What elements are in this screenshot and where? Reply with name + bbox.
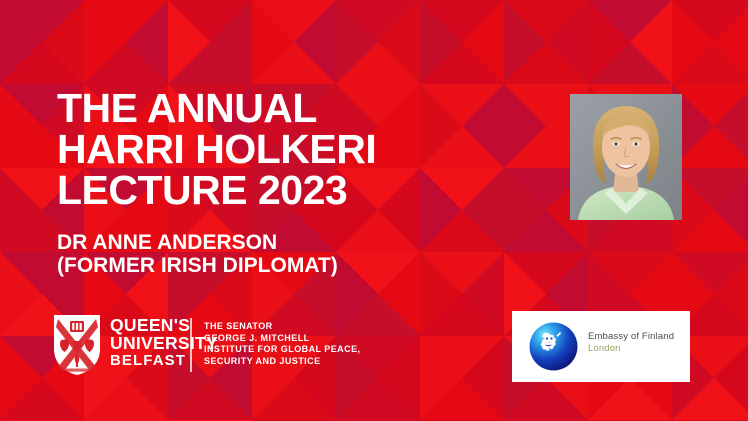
pattern-triangle	[252, 0, 294, 84]
page-title: THE ANNUAL HARRI HOLKERI LECTURE 2023	[57, 88, 537, 211]
embassy-of-finland-logo: Embassy of Finland London	[512, 311, 690, 382]
queens-crest-icon	[52, 313, 102, 377]
pattern-cell	[504, 0, 588, 84]
speaker-role: (FORMER IRISH DIPLOMAT)	[57, 254, 477, 277]
pattern-cell	[252, 0, 336, 84]
title-line-3: LECTURE 2023	[57, 170, 537, 211]
pattern-cell	[0, 0, 84, 84]
pattern-triangle	[420, 0, 462, 84]
slide-canvas: THE ANNUAL HARRI HOLKERI LECTURE 2023 DR…	[0, 0, 748, 421]
pattern-triangle	[0, 252, 42, 336]
embassy-line-2: London	[588, 343, 674, 355]
institute-line-3: INSTITUTE FOR GLOBAL PEACE,	[204, 344, 361, 356]
title-line-2: HARRI HOLKERI	[57, 129, 537, 170]
pattern-cell	[672, 0, 748, 84]
pattern-cell	[168, 0, 252, 84]
pattern-triangle	[0, 84, 42, 168]
institute-line-4: SECURITY AND JUSTICE	[204, 356, 361, 368]
pattern-triangle	[0, 336, 42, 420]
pattern-cell	[336, 0, 420, 84]
speaker-subtitle: DR ANNE ANDERSON (FORMER IRISH DIPLOMAT)	[57, 231, 477, 277]
qub-line-2: UNIVERSITY	[110, 335, 218, 353]
pattern-triangle	[420, 336, 462, 420]
pattern-cell	[84, 0, 168, 84]
pattern-triangle	[336, 0, 378, 84]
pattern-cell	[672, 84, 748, 168]
queens-wordmark: QUEEN'S UNIVERSITY BELFAST	[110, 317, 218, 369]
pattern-triangle	[588, 0, 630, 84]
pattern-triangle	[0, 168, 42, 252]
pattern-triangle	[0, 0, 42, 84]
speaker-name: DR ANNE ANDERSON	[57, 231, 477, 254]
finland-lion-globe-icon	[526, 319, 581, 374]
pattern-triangle	[84, 0, 126, 84]
pattern-cell	[420, 0, 504, 84]
pattern-cell	[420, 336, 504, 420]
mitchell-institute-name: THE SENATOR GEORGE J. MITCHELL INSTITUTE…	[204, 321, 361, 367]
portrait-illustration	[570, 94, 682, 220]
speaker-portrait-photo	[570, 94, 682, 220]
pattern-cell	[588, 0, 672, 84]
qub-line-1: QUEEN'S	[110, 317, 218, 335]
qub-line-3: BELFAST	[110, 352, 218, 369]
embassy-line-1: Embassy of Finland	[588, 331, 674, 343]
embassy-wordmark: Embassy of Finland London	[588, 331, 674, 355]
title-line-1: THE ANNUAL	[57, 88, 537, 129]
pattern-triangle	[672, 0, 714, 84]
institute-line-1: THE SENATOR	[204, 321, 361, 333]
pattern-triangle	[504, 0, 546, 84]
pattern-triangle	[168, 0, 210, 84]
institute-line-2: GEORGE J. MITCHELL	[204, 333, 361, 345]
logo-divider	[190, 318, 192, 372]
pattern-cell	[672, 168, 748, 252]
